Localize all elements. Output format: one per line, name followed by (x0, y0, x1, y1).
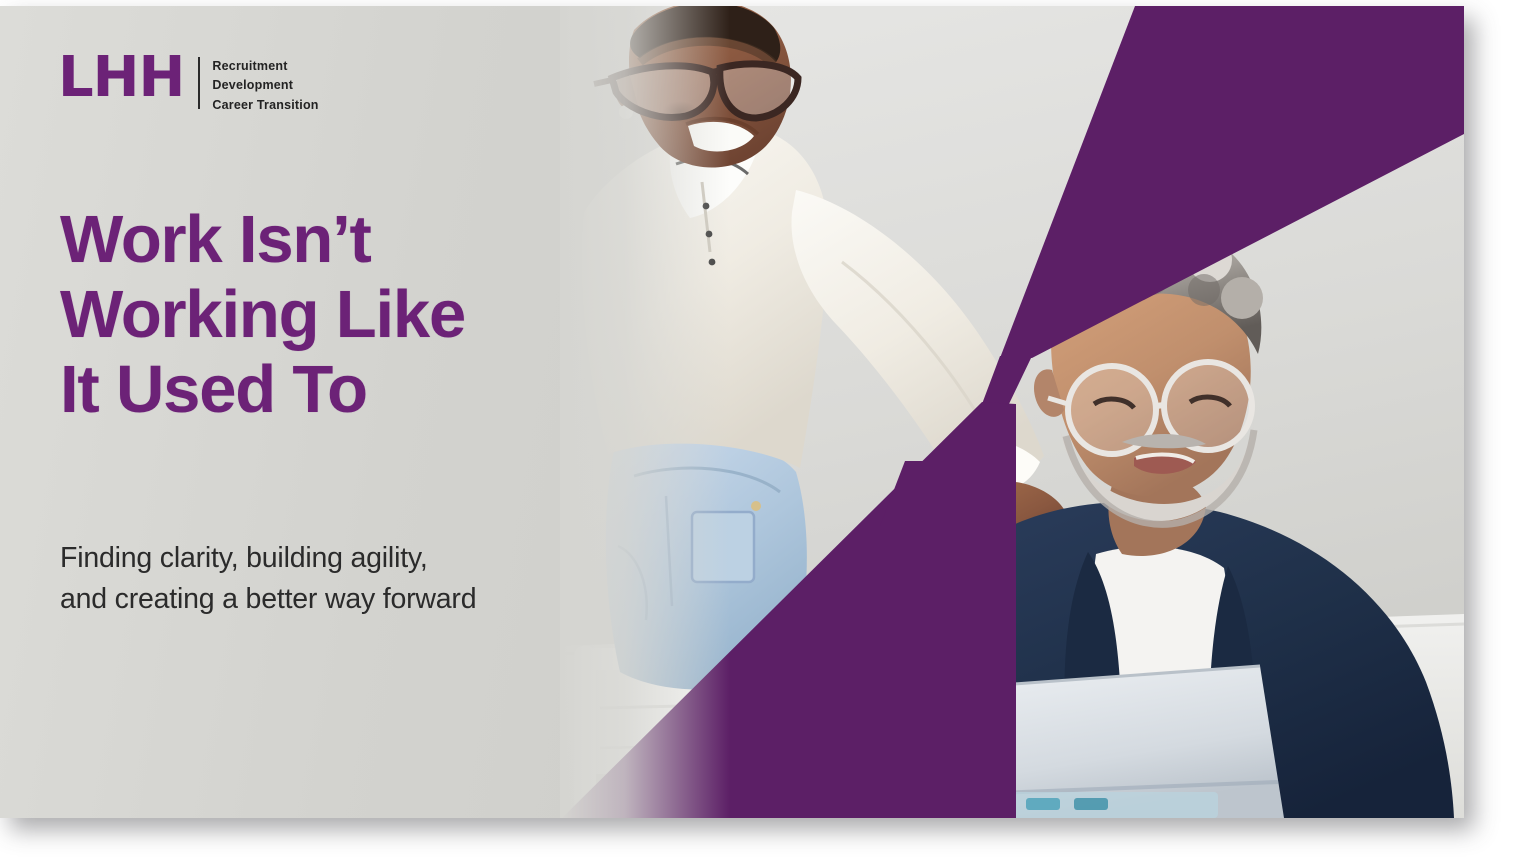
logo-tagline: Recruitment Development Career Transitio… (212, 57, 318, 115)
photo-illustration (560, 6, 1464, 818)
headline-line-3: It Used To (60, 352, 465, 427)
slide-stage: LHH Recruitment Development Career Trans… (0, 0, 1536, 864)
subhead-line-2: and creating a better way forward (60, 579, 476, 620)
hero-photograph (560, 6, 1464, 818)
lhh-logo: LHH Recruitment Development Career Trans… (58, 52, 319, 115)
silver-laptop (912, 666, 1284, 818)
logo-tagline-line-1: Recruitment (212, 57, 318, 76)
headline-line-2: Working Like (60, 277, 465, 352)
logo-wordmark: LHH (58, 52, 184, 104)
slide-subhead: Finding clarity, building agility, and c… (60, 538, 476, 620)
logo-tagline-line-3: Career Transition (212, 96, 318, 115)
slide-headline: Work Isn’t Working Like It Used To (60, 202, 465, 427)
headline-line-1: Work Isn’t (60, 202, 465, 277)
logo-tagline-line-2: Development (212, 76, 318, 95)
logo-divider-rule (198, 57, 200, 109)
subhead-line-1: Finding clarity, building agility, (60, 538, 476, 579)
slide-card: LHH Recruitment Development Career Trans… (0, 6, 1464, 818)
